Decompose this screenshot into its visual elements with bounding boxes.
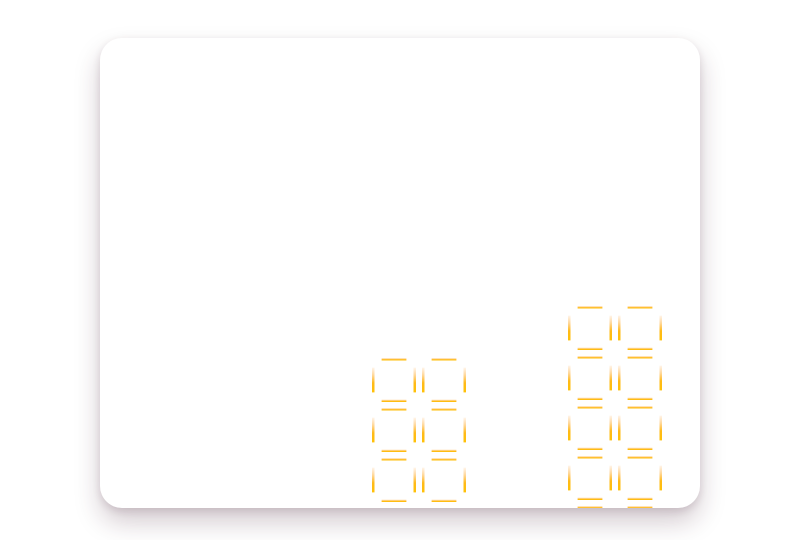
cicp-logo: CICP Central Indiana Corporate Partnersh… bbox=[346, 102, 451, 142]
title-line-3: REPORT bbox=[155, 320, 465, 372]
logo-lockup: TECHPOINT + bbox=[156, 100, 451, 144]
cicp-text-group: CICP Central Indiana Corporate Partnersh… bbox=[387, 106, 451, 137]
cover-content: TECHPOINT + bbox=[100, 38, 700, 508]
lockup-plus-symbol: + bbox=[323, 115, 331, 129]
title-divider bbox=[157, 193, 362, 194]
title-line-2: VENTURE bbox=[155, 268, 465, 320]
cicp-pinwheel-icon bbox=[346, 102, 386, 142]
cicp-wordmark: CICP bbox=[387, 106, 451, 131]
cicp-tagline: Central Indiana Corporate Partnership bbox=[387, 134, 451, 137]
screenshot-stage: TECHPOINT + bbox=[0, 0, 800, 540]
page-title: 2025 TECH VENTURE REPORT bbox=[155, 216, 465, 372]
title-line-1: 2025 TECH bbox=[155, 216, 465, 268]
techpoint-logo: TECHPOINT bbox=[156, 113, 299, 131]
report-cover-card: TECHPOINT + bbox=[100, 38, 700, 508]
